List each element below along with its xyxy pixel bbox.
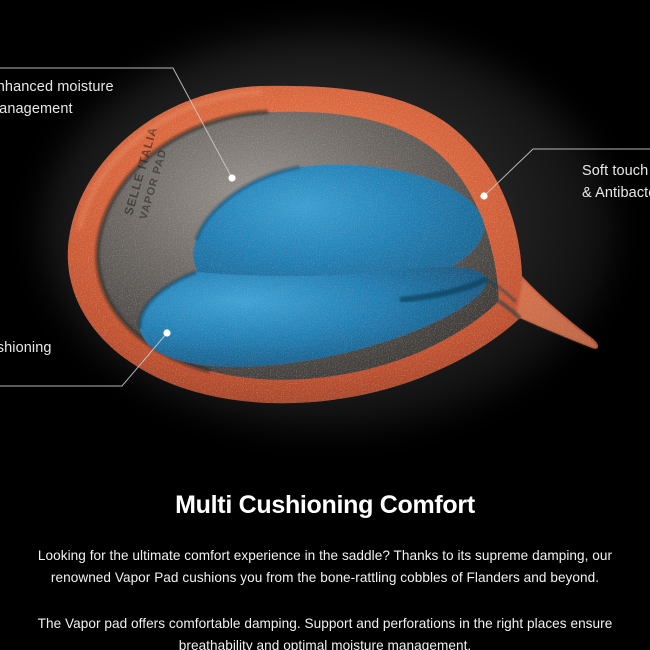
callout-label-soft-touch-line1: Soft touch xyxy=(582,160,650,182)
body-paragraph-1: Looking for the ultimate comfort experie… xyxy=(0,520,650,589)
product-feature-page: SELLE ITALIA VAPOR PAD xyxy=(0,0,650,650)
callout-label-moisture: Enhanced moisture management xyxy=(0,76,114,121)
saddle-pad-cutaway-illustration: SELLE ITALIA VAPOR PAD xyxy=(0,0,650,470)
callout-label-moisture-line2: management xyxy=(0,98,114,120)
feature-copy-block: Multi Cushioning Comfort Looking for the… xyxy=(0,470,650,650)
product-hero-image: SELLE ITALIA VAPOR PAD xyxy=(0,0,650,470)
callout-label-soft-touch: Soft touch & Antibacterial xyxy=(582,160,650,205)
tail-fold-highlight xyxy=(516,279,597,348)
callout-marker-moisture xyxy=(228,174,235,181)
callout-marker-comfort xyxy=(163,329,170,336)
callout-label-comfort-line1: Multi cushioning xyxy=(0,337,52,359)
body-paragraph-2: The Vapor pad offers comfortable damping… xyxy=(0,589,650,650)
callout-label-soft-touch-line2: & Antibacterial xyxy=(582,182,650,204)
callout-label-comfort-line2: comfort xyxy=(0,359,52,381)
callout-marker-soft-touch xyxy=(480,192,487,199)
callout-label-moisture-line1: Enhanced moisture xyxy=(0,76,114,98)
page-title: Multi Cushioning Comfort xyxy=(0,470,650,520)
callout-label-comfort: Multi cushioning comfort xyxy=(0,337,52,382)
